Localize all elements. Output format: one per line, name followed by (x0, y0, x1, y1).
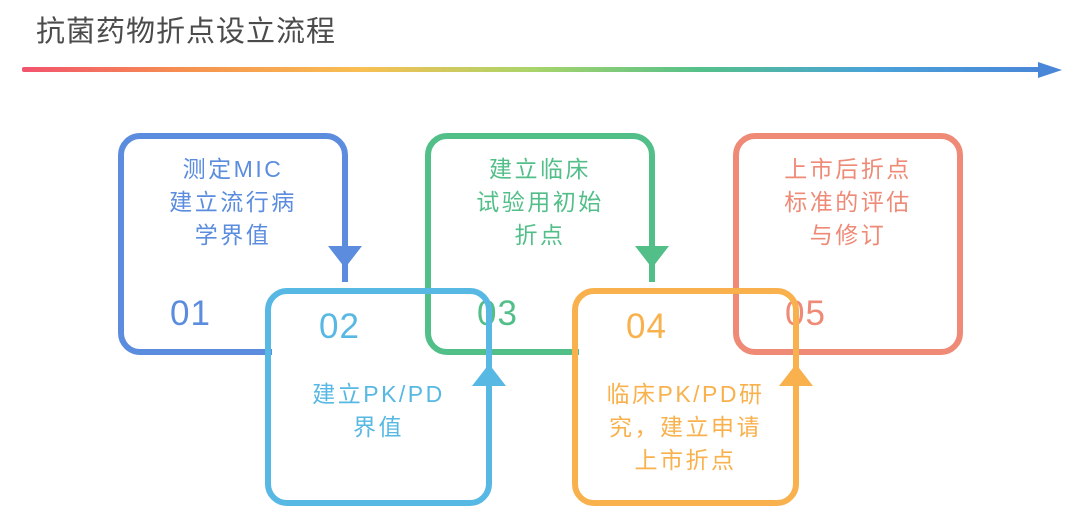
gradient-arrow-divider (22, 62, 1064, 78)
slide-canvas: 抗菌药物折点设立流程 测定MIC 建立流行病 学界值 01 建立临床 试验用初始… (0, 0, 1080, 521)
connector-shaft (649, 200, 655, 246)
connector-04-to-05 (778, 364, 814, 450)
gradient-line (22, 67, 1042, 72)
connector-01-to-02 (327, 200, 363, 282)
connector-arrowhead-up-icon (779, 364, 813, 386)
connector-shaft (793, 392, 799, 450)
step-card-04-number: 04 (626, 309, 667, 344)
connector-shaft (486, 392, 492, 450)
page-title: 抗菌药物折点设立流程 (36, 14, 336, 50)
connector-arrowhead-down-icon (635, 246, 669, 268)
step-card-02-number: 02 (319, 309, 360, 344)
step-card-04-text: 临床PK/PD研 究，建立申请 上市折点 (578, 378, 793, 477)
connector-02-to-03 (471, 364, 507, 450)
arrow-head-icon (1038, 62, 1062, 78)
step-card-02-text: 建立PK/PD 界值 (271, 378, 486, 444)
step-card-03-text: 建立临床 试验用初始 折点 (431, 153, 649, 252)
connector-shaft (342, 200, 348, 246)
step-card-05-text: 上市后折点 标准的评估 与修订 (739, 153, 957, 252)
step-card-01-number: 01 (170, 296, 211, 331)
connector-03-to-04 (634, 200, 670, 282)
connector-arrowhead-down-icon (328, 246, 362, 268)
step-card-04[interactable]: 04 临床PK/PD研 究，建立申请 上市折点 (572, 288, 799, 506)
connector-arrowhead-up-icon (472, 364, 506, 386)
step-card-02[interactable]: 02 建立PK/PD 界值 (265, 288, 492, 506)
step-card-01-text: 测定MIC 建立流行病 学界值 (124, 153, 342, 252)
